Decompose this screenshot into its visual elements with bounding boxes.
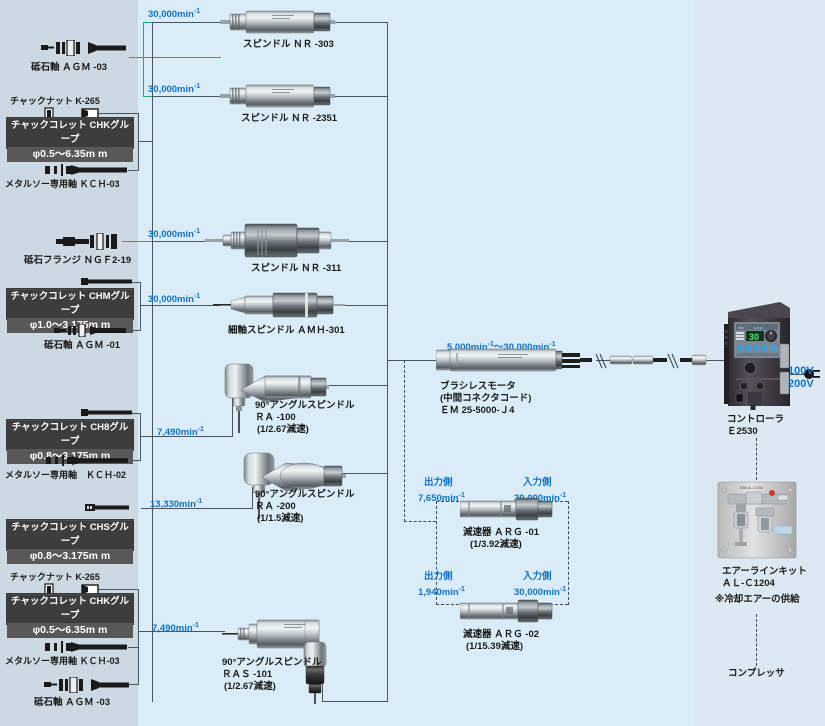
collet-title: チャックコレット CH8グループ xyxy=(7,421,133,449)
speed-nr311: 30,000min-1 xyxy=(148,226,200,241)
label-controller-line2: Ｅ2530 xyxy=(727,426,758,438)
line-chk2-bracket xyxy=(138,589,139,685)
label-spindle-nr-2351: スピンドル ＮＲ -2351 xyxy=(241,113,337,125)
label-airline-note: ※冷却エアーの供給 xyxy=(715,594,800,606)
diagram-canvas: 砥石軸 ＡＧＭ -03 30,000min-1 スピンドル ＮＲ -303 30… xyxy=(0,0,825,726)
image-controller-e2530: NSK E2530 30 xyxy=(724,300,792,410)
label-ra-200-line1: 90°アングルスピンドル xyxy=(255,489,355,501)
label-motor-line2: (中間コネクタコード) xyxy=(440,393,531,405)
part-spindle-nr-303 xyxy=(220,5,335,41)
label-kch-03-1: メタルソー専用軸 ＫＣＨ-03 xyxy=(5,179,120,191)
part-reducer-arg-02 xyxy=(460,597,556,625)
collet-group-chk-2: チャックコレット CHKグループ φ0.5～6.35m m xyxy=(6,593,134,625)
speed-amh301: 30,000min-1 xyxy=(148,291,200,306)
tool-agm-03-top xyxy=(40,40,130,56)
line-chm-bracket xyxy=(140,282,141,331)
part-brushless-motor-em25-5000-j4 xyxy=(436,348,708,374)
label-agm-03-top: 砥石軸 ＡＧＭ -03 xyxy=(31,62,107,74)
tool-ngf2-19 xyxy=(56,233,126,250)
svg-text:NSK: NSK xyxy=(738,326,744,330)
label-ras-101-line2: ＲＡＳ -101 xyxy=(222,669,272,681)
collet-sub: φ0.5～6.35m m xyxy=(7,147,133,162)
tool-ch8-pin xyxy=(81,407,139,418)
line-agm03-vertical xyxy=(143,22,144,97)
dash-controller-to-alk xyxy=(756,438,757,480)
label-airline-line1: エアーラインキット xyxy=(722,566,807,578)
collet-title: チャックコレット CHKグループ xyxy=(7,595,133,623)
dash-alk-to-compressor xyxy=(756,614,757,666)
label-ra-200-line3: (1/1.5減速) xyxy=(257,513,303,525)
label-agm-03-bottom: 砥石軸 ＡＧＭ -03 xyxy=(34,697,110,709)
part-reducer-arg-01 xyxy=(460,495,556,523)
tool-agm-01 xyxy=(54,324,128,337)
label-spindle-nr-311: スピンドル ＮＲ -311 xyxy=(251,263,341,275)
collet-title: チャックコレット CHMグループ xyxy=(7,290,133,318)
return-nr303 xyxy=(331,22,388,23)
label-ras-101-line1: 90°アングルスピンドル xyxy=(222,657,322,669)
label-kch-03-2: メタルソー専用軸 ＫＣＨ-03 xyxy=(5,656,120,668)
dash-bus-down xyxy=(404,360,405,522)
line-ch8-bracket xyxy=(140,413,141,461)
collet-group-chs: チャックコレット CHSグループ φ0.8～3.175m m xyxy=(6,519,134,551)
tool-kch-03-2 xyxy=(44,640,129,654)
label-ra-100-line3: (1/2.67減速) xyxy=(257,424,309,436)
tool-agm-03-bottom xyxy=(43,677,133,693)
speed-nr303: 30,000min-1 xyxy=(148,6,200,21)
tool-kch-03-1 xyxy=(44,163,129,177)
label-voltage-100v: 100V xyxy=(788,365,814,377)
collet-group-ch8: チャックコレット CH8グループ φ0.8～3.175m m xyxy=(6,419,134,451)
label-compressor: コンプレッサ xyxy=(728,668,785,680)
label-arg01-in-title: 入力側 xyxy=(523,477,552,489)
part-spindle-amh-301 xyxy=(213,288,345,322)
tool-kch-02 xyxy=(45,454,129,467)
label-agm-01: 砥石軸 ＡＧＭ -01 xyxy=(44,340,120,352)
label-ra-200-line2: ＲＡ -200 xyxy=(255,501,296,513)
label-spindle-amh-301: 細軸スピンドル ＡＭＨ-301 xyxy=(228,325,345,337)
label-spindle-nr-303: スピンドル ＮＲ -303 xyxy=(243,39,334,51)
tool-chm-pin xyxy=(81,276,139,287)
label-voltage-200v: 200V xyxy=(788,378,814,390)
label-ra-100-line2: ＲＡ -100 xyxy=(255,412,296,424)
svg-text:NSK AL-C1204: NSK AL-C1204 xyxy=(740,486,763,490)
return-amh301 xyxy=(340,305,388,306)
label-airline-line2: ＡＬ-Ｃ1204 xyxy=(722,578,775,590)
label-controller-line1: コントローラ xyxy=(727,414,784,426)
line-bus-to-motor xyxy=(387,360,437,361)
line-chk1-out xyxy=(138,141,152,142)
collet-title: チャックコレット CHSグループ xyxy=(7,521,133,549)
image-airline-kit-al-c1204: NSK AL-C1204 xyxy=(716,480,798,560)
bus-line-left xyxy=(152,22,153,702)
label-kch-02: メタルソー専用軸 ＫＣＨ-02 xyxy=(5,470,126,482)
collet-sub: φ0.8～3.175m m xyxy=(7,549,133,564)
svg-text:E2530: E2530 xyxy=(754,326,763,330)
dash-bus-right xyxy=(404,521,436,522)
speed-ras101: 7,490min-1 xyxy=(152,620,199,635)
speed-ra200: 13,330min-1 xyxy=(150,496,202,511)
speed-arg01-out: 7,650min-1 xyxy=(418,490,465,505)
label-arg-01-line2: (1/3.92減速) xyxy=(470,539,522,551)
return-nr311 xyxy=(345,241,388,242)
label-arg02-out-title: 出力側 xyxy=(424,571,453,583)
line-chk1-bracket xyxy=(138,113,139,171)
label-ngf2-19: 砥石フランジ ＮＧＦ2-19 xyxy=(24,255,131,267)
label-arg-02-line2: (1/15.39減速) xyxy=(466,641,523,653)
label-ras-101-line3: (1/2.67減速) xyxy=(224,681,276,693)
label-ra-100-line1: 90°アングルスピンドル xyxy=(255,400,355,412)
bus-line-main xyxy=(387,22,388,701)
label-arg02-in-title: 入力側 xyxy=(523,571,552,583)
part-spindle-nr-311 xyxy=(205,216,350,264)
feed-nr303 xyxy=(152,22,222,23)
speed-arg02-out: 1,940min-1 xyxy=(418,584,465,599)
collet-group-chm: チャックコレット CHMグループ φ1.0～3.175m m xyxy=(6,288,134,320)
label-motor-line1: ブラシレスモータ xyxy=(440,381,516,393)
controller-display-value: 30 xyxy=(749,332,759,342)
tool-chs-pin xyxy=(85,502,137,513)
collet-sub: φ0.5～6.35m m xyxy=(7,623,133,638)
label-arg01-out-title: 出力側 xyxy=(424,477,453,489)
label-arg-02-line1: 減速器 ＡＲＧ -02 xyxy=(463,629,539,641)
collet-group-chk-1: チャックコレット CHKグループ φ0.5～6.35m m xyxy=(6,117,134,149)
return-nr2351 xyxy=(331,96,388,97)
label-motor-line3: ＥＭ 25-5000-Ｊ4 xyxy=(440,405,514,417)
collet-title: チャックコレット CHKグループ xyxy=(7,119,133,147)
speed-ra100: 7,490min-1 xyxy=(157,424,204,439)
dash-reducer-right xyxy=(568,501,569,605)
label-arg-01-line1: 減速器 ＡＲＧ -01 xyxy=(463,527,539,539)
speed-nr2351: 30,000min-1 xyxy=(148,81,200,96)
part-spindle-nr-2351 xyxy=(220,79,335,115)
